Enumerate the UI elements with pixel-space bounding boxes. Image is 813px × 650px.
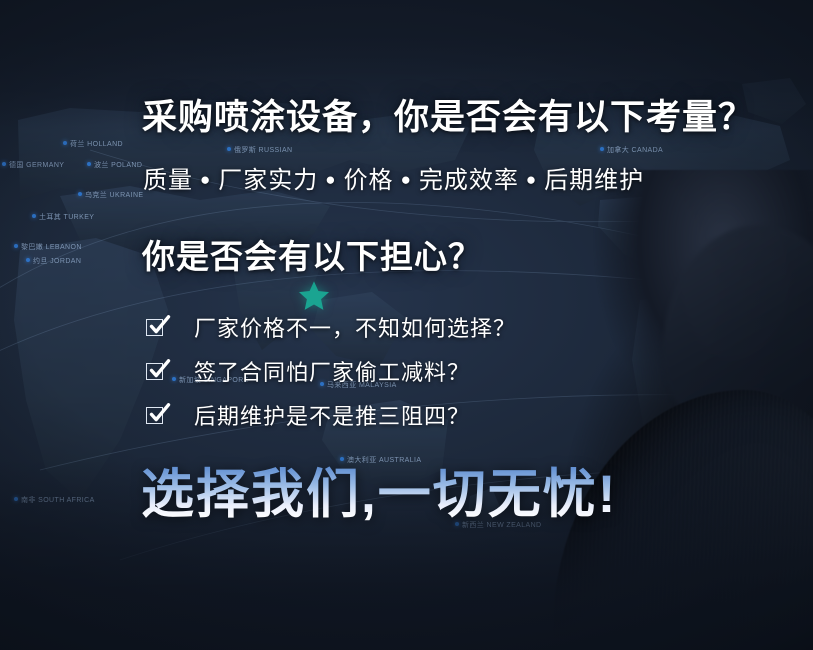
- slogan-text: 选择我们,一切无忧!: [141, 452, 617, 528]
- promo-banner: 荷兰 HOLLAND德国 GERMANY波兰 POLAND俄罗斯 RUSSIAN…: [0, 0, 813, 650]
- slogan-block: 选择我们,一切无忧! 选择我们,一切无忧!: [0, 0, 813, 650]
- banner-content: 采购喷涂设备，你是否会有以下考量？ 质量●厂家实力●价格●完成效率●后期维护 你…: [0, 0, 813, 650]
